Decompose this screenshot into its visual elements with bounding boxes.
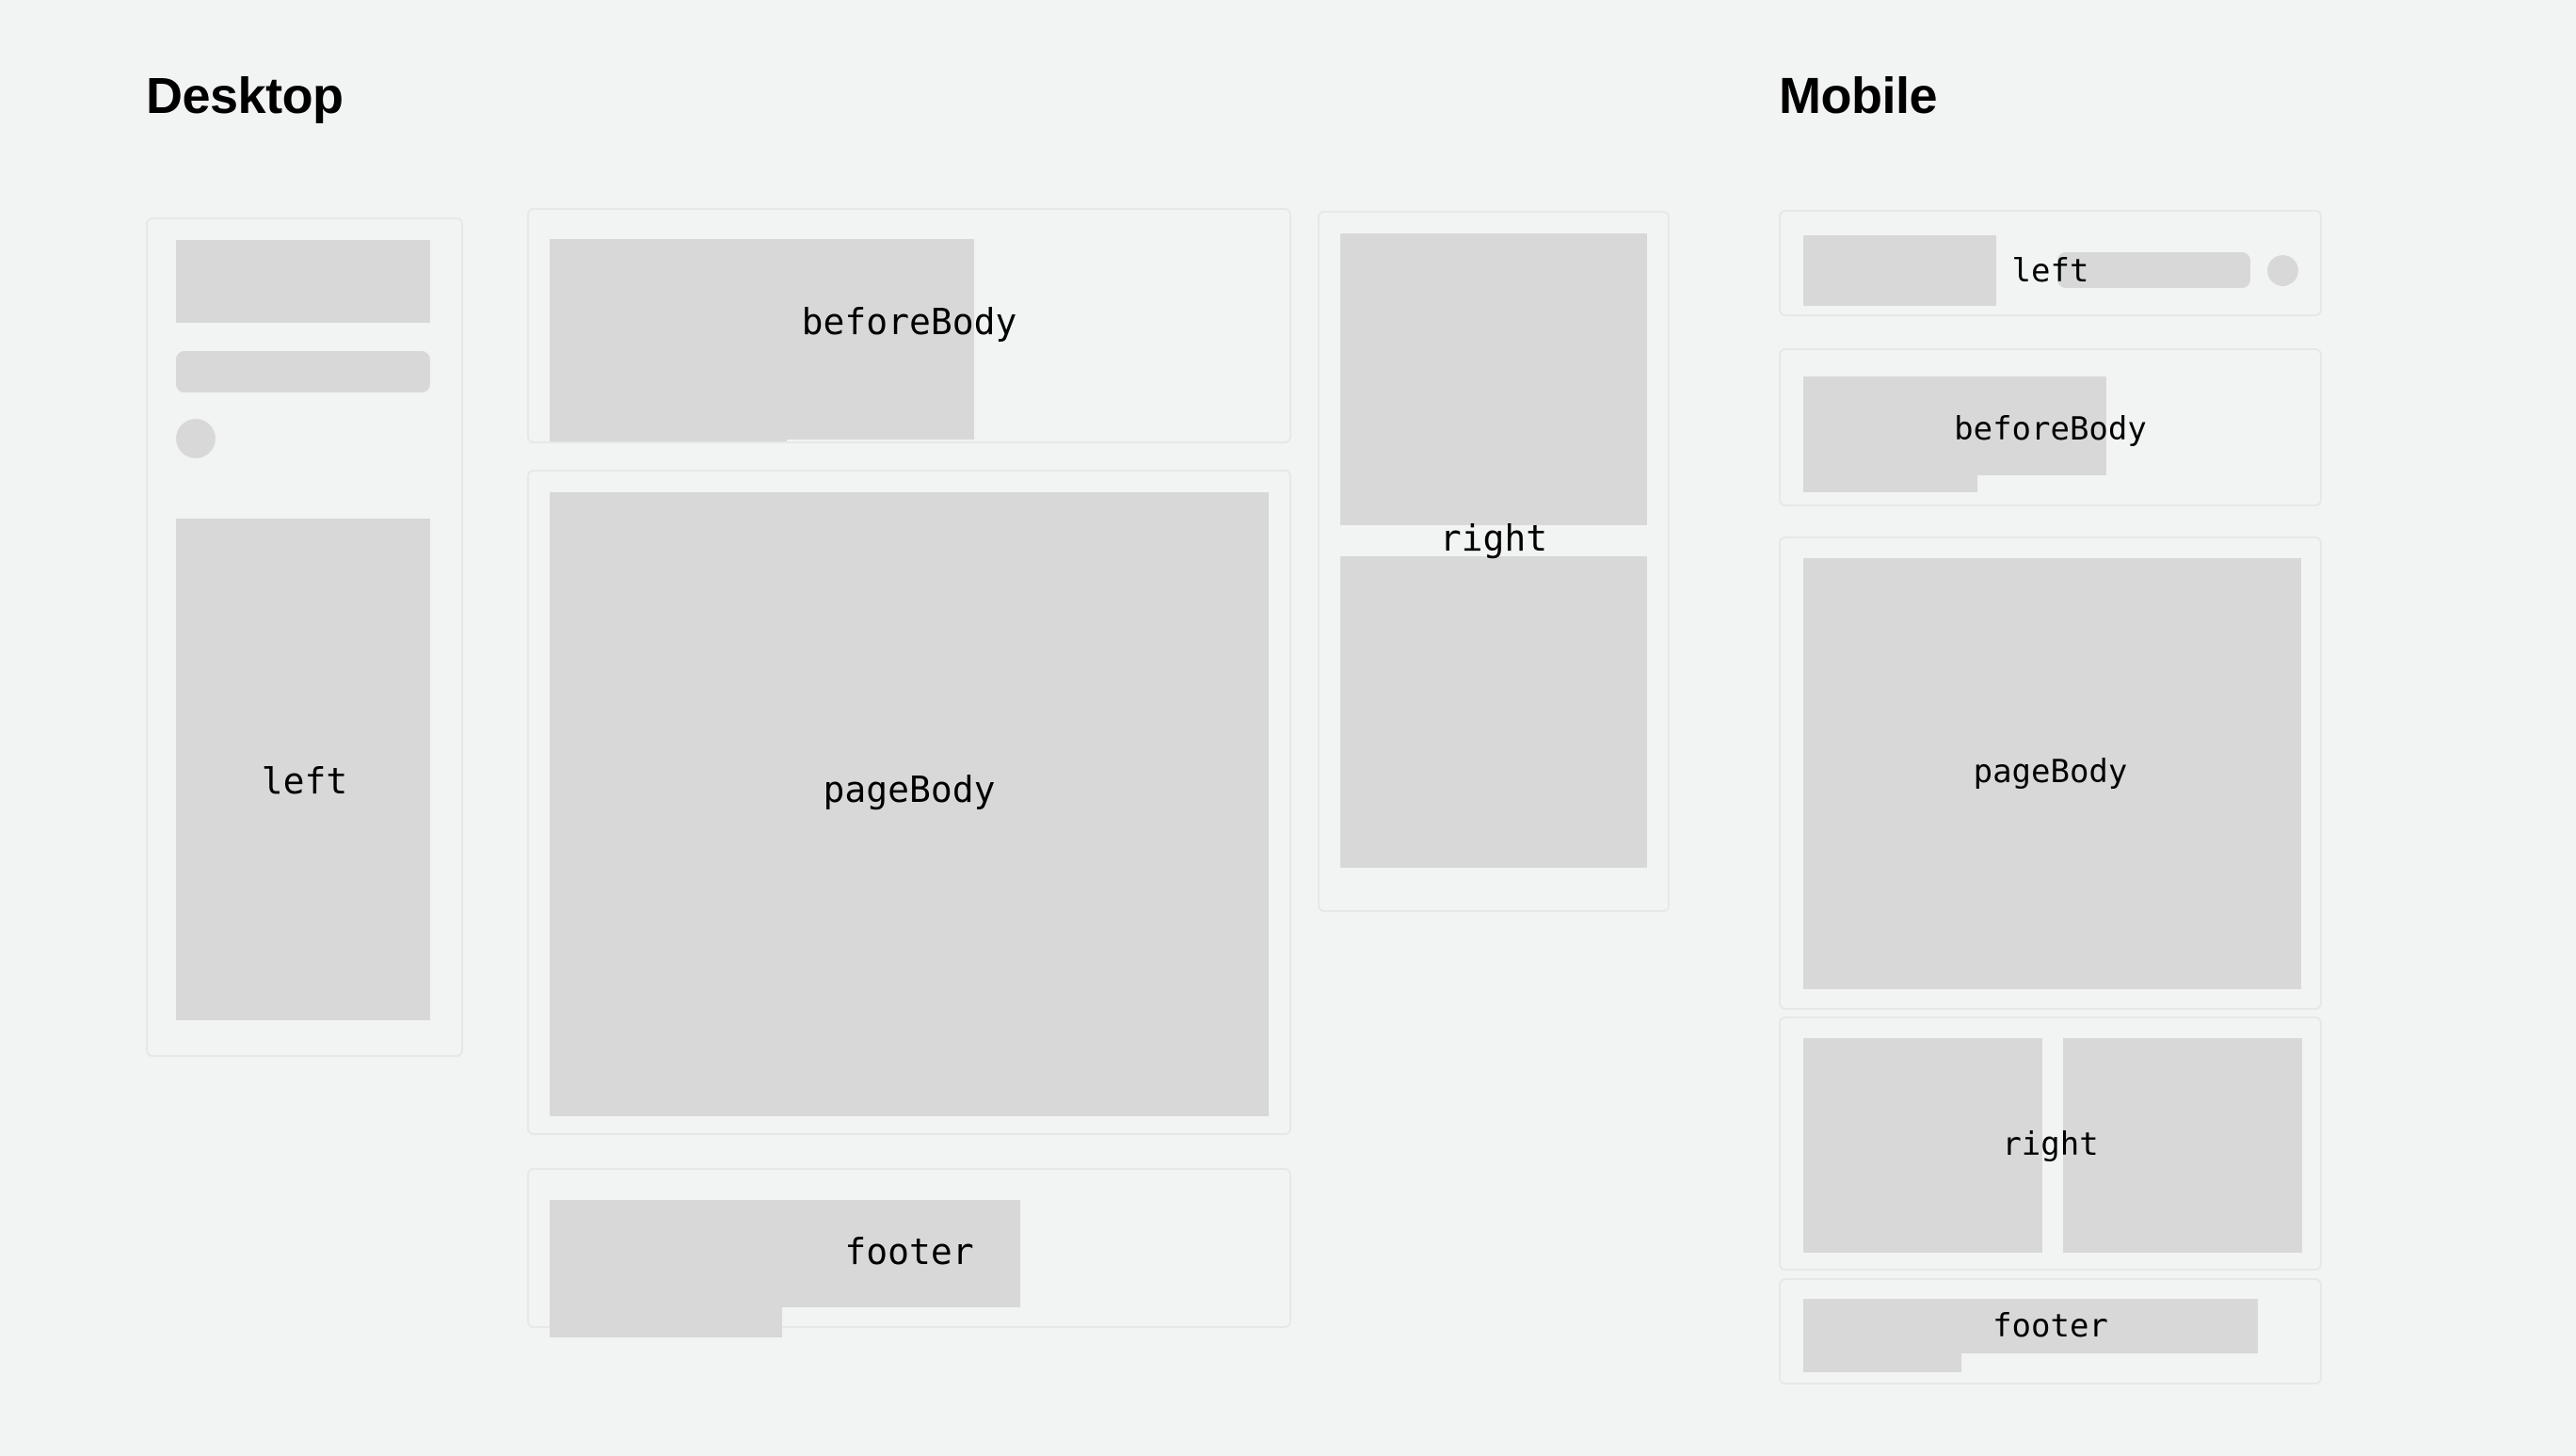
skeleton-block: [1803, 376, 2106, 475]
skeleton-pill: [2057, 252, 2250, 288]
mobile-footer-panel[interactable]: footer: [1779, 1278, 2322, 1384]
skeleton-block: [1803, 1038, 2042, 1253]
skeleton-avatar-circle: [176, 419, 216, 458]
skeleton-avatar-circle: [2267, 255, 2298, 286]
layout-preview-canvas: Desktop left beforeBody pageBody footer …: [0, 0, 2576, 1456]
mobile-section-title: Mobile: [1779, 71, 1937, 121]
desktop-right-panel[interactable]: right: [1318, 211, 1670, 912]
mobile-before-body-panel[interactable]: beforeBody: [1779, 348, 2322, 506]
mobile-left-panel[interactable]: left: [1779, 210, 2322, 316]
skeleton-block: [1803, 1346, 1961, 1372]
mobile-right-panel[interactable]: right: [1779, 1016, 2322, 1271]
skeleton-block: [176, 519, 430, 1020]
mobile-page-body-panel[interactable]: pageBody: [1779, 536, 2322, 1010]
skeleton-block: [1803, 558, 2301, 989]
skeleton-block: [1803, 235, 1996, 306]
skeleton-block: [550, 492, 1269, 1116]
desktop-footer-panel[interactable]: footer: [527, 1168, 1291, 1328]
skeleton-block: [1803, 465, 1977, 492]
skeleton-pill: [176, 351, 430, 392]
skeleton-block: [550, 1283, 782, 1337]
desktop-page-body-panel[interactable]: pageBody: [527, 470, 1291, 1135]
desktop-left-panel[interactable]: left: [146, 217, 463, 1057]
skeleton-block: [550, 385, 787, 441]
skeleton-block: [176, 240, 430, 323]
desktop-section-title: Desktop: [146, 71, 344, 121]
desktop-right-slot-label: right: [1320, 520, 1668, 556]
skeleton-block: [2063, 1038, 2302, 1253]
desktop-before-body-panel[interactable]: beforeBody: [527, 208, 1291, 443]
skeleton-block: [1340, 233, 1647, 525]
skeleton-block: [1340, 556, 1647, 868]
